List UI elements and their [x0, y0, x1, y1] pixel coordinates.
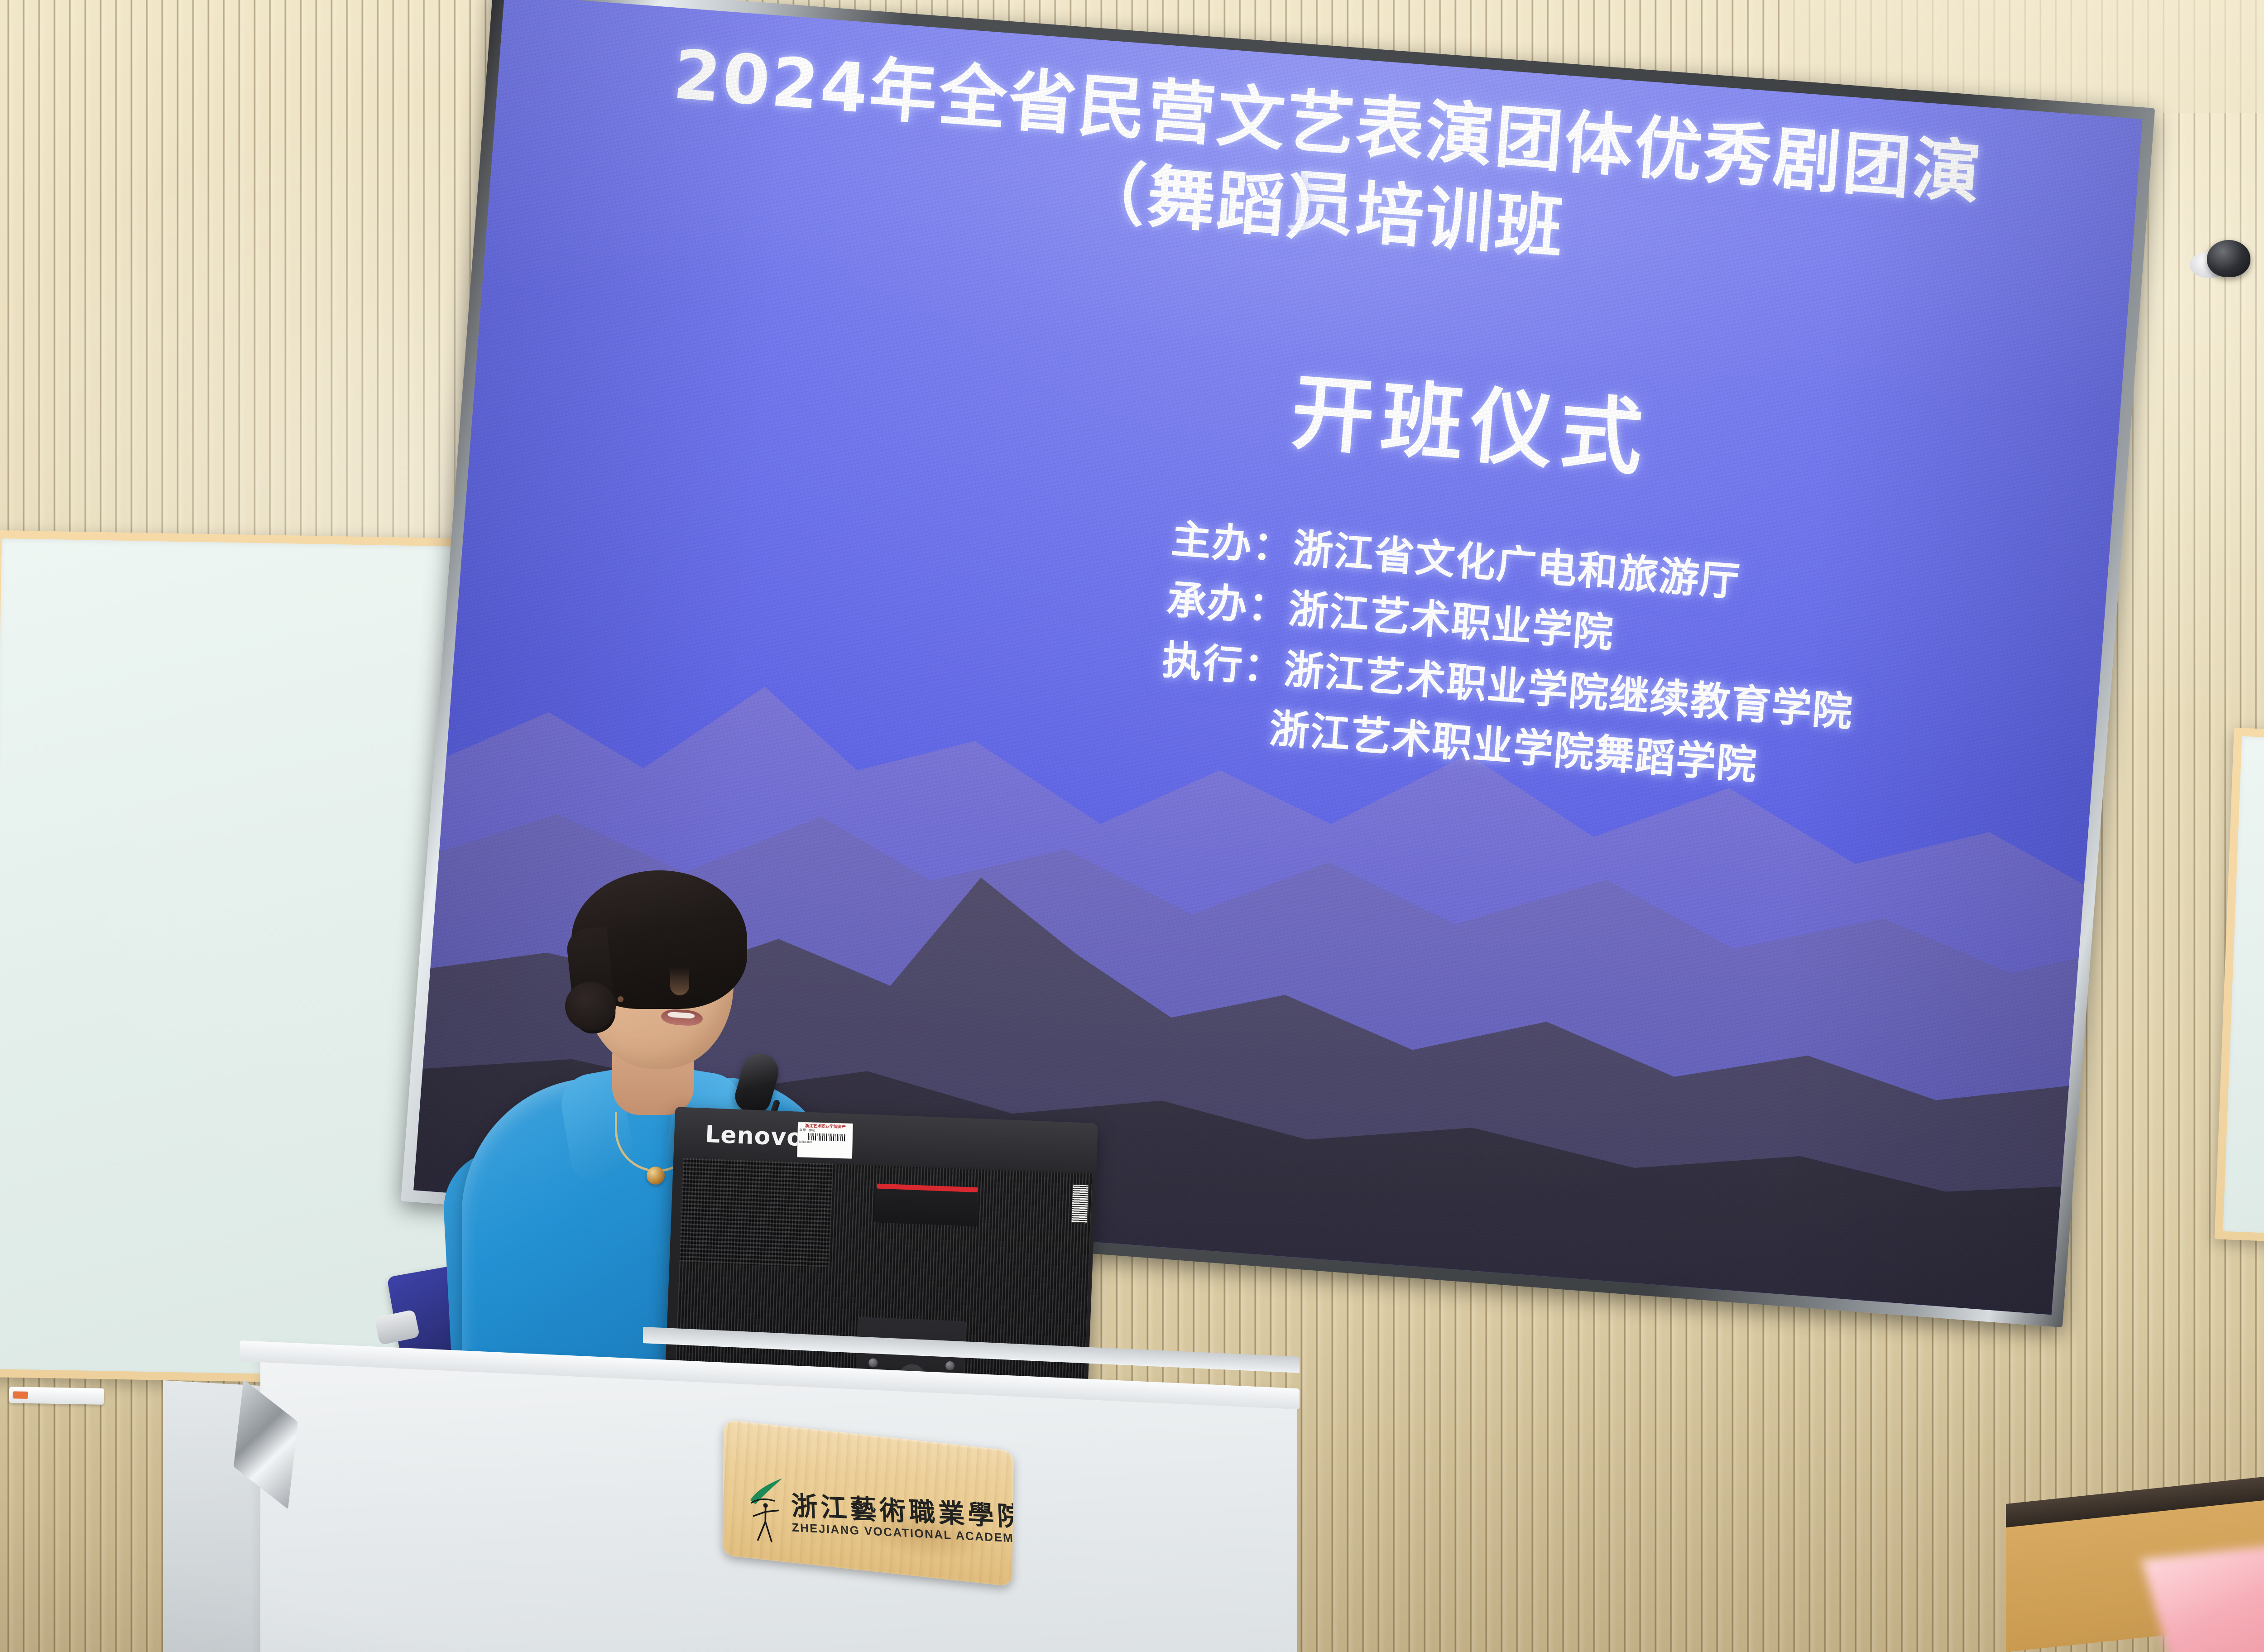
slide-organizers: 主办：浙江省文化广电和旅游厅 承办：浙江艺术职业学院 执行：浙江艺术职业学院继续…	[1156, 509, 2068, 818]
lectern-nameplate: 浙江藝術職業學院 ZHEJIANG VOCATIONAL ACADEMY OF …	[722, 1419, 1013, 1586]
presenter-nose	[670, 967, 689, 995]
dome-camera-icon	[2207, 240, 2250, 277]
monitor-vent-grille-secondary	[679, 1158, 833, 1268]
monitor-recess	[874, 1187, 979, 1226]
whiteboard-marker[interactable]	[9, 1387, 105, 1405]
lenovo-logo: Lenovo	[705, 1121, 804, 1152]
presenter-mole	[618, 996, 624, 1002]
presenter-pendant	[647, 1167, 665, 1185]
whiteboard-left-surface	[0, 538, 470, 1377]
academy-dancer-logo-icon	[744, 1471, 789, 1548]
presenter-hair-bun	[565, 982, 616, 1031]
monitor-qr-label	[1071, 1185, 1088, 1223]
whiteboard-left[interactable]	[0, 530, 478, 1385]
lectern: 浙江藝術職業學院 ZHEJIANG VOCATIONAL ACADEMY OF …	[163, 1336, 1295, 1652]
slide-heading: 开班仪式	[970, 321, 1972, 515]
lecture-hall-scene: 2024年全省民营文艺表演团体优秀剧团演员 （舞蹈）培训班 开班仪式 主办：浙江…	[0, 0, 2264, 1652]
asset-tag-label: 浙江艺术职业学院资产 联想一体机 N201109	[797, 1122, 853, 1158]
